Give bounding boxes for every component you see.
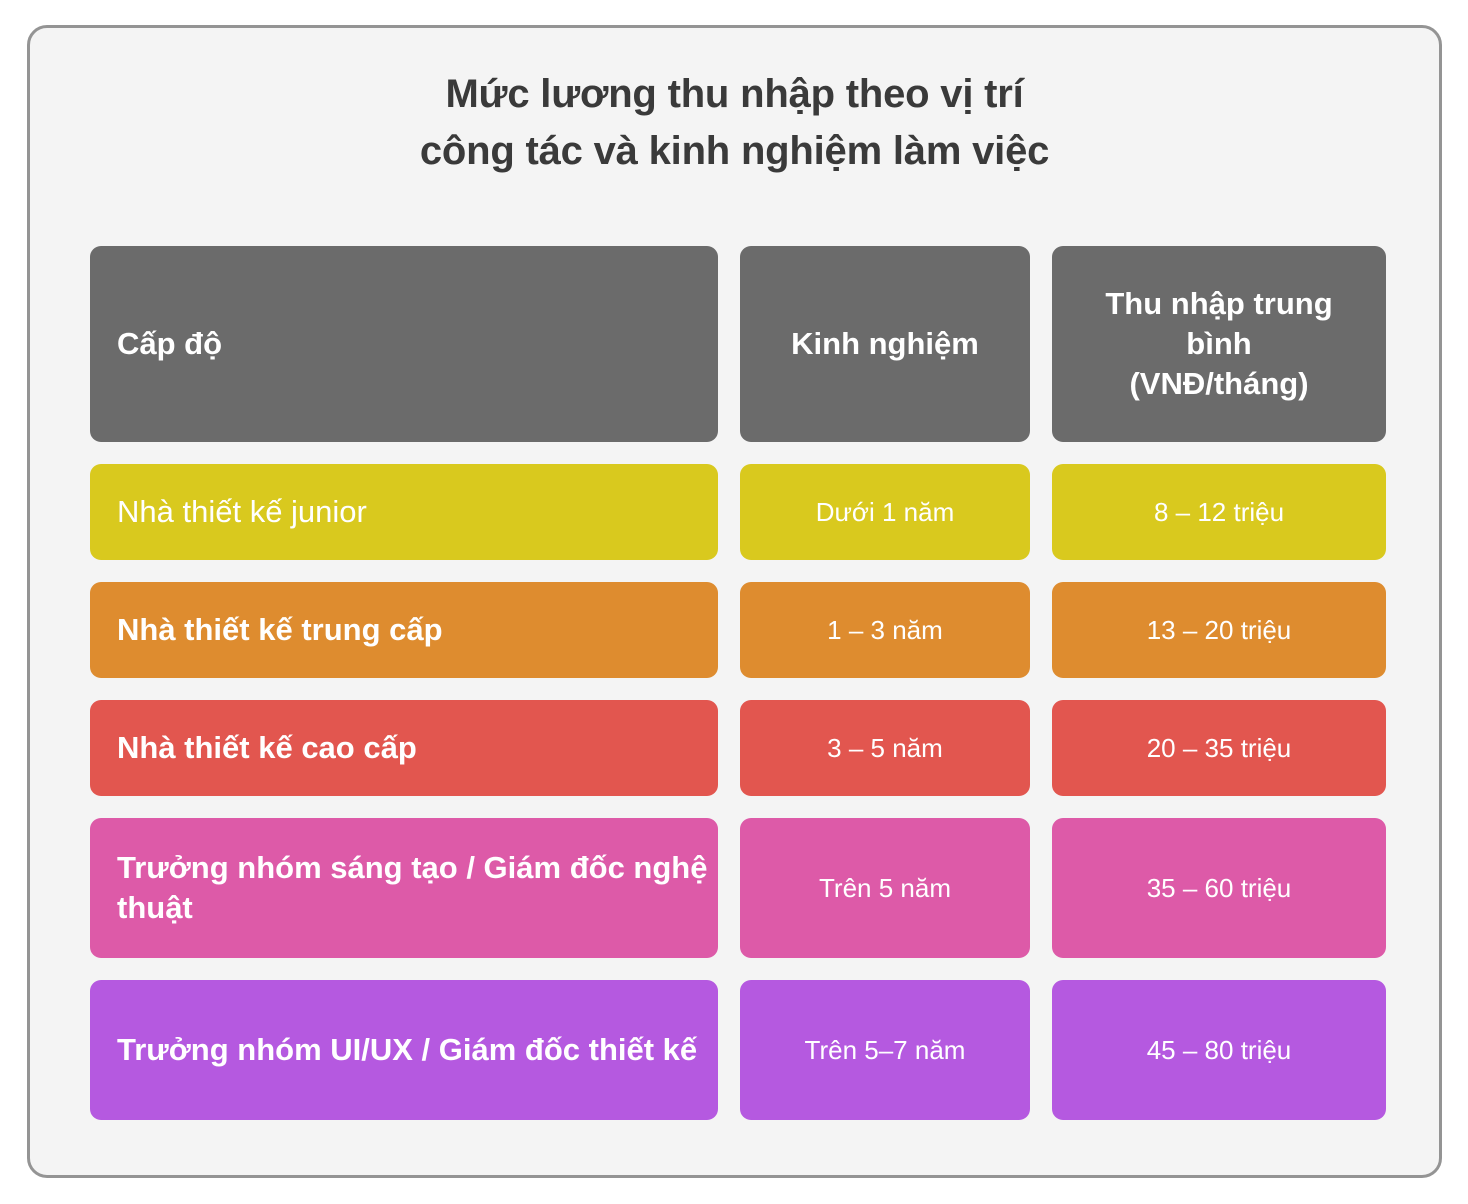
cell-level: Trưởng nhóm UI/UX / Giám đốc thiết kế xyxy=(90,980,718,1120)
cell-experience: 1 – 3 năm xyxy=(740,582,1030,678)
cell-income: 45 – 80 triệu xyxy=(1052,980,1386,1120)
salary-table: Cấp độ Kinh nghiệm Thu nhập trung bình (… xyxy=(90,246,1386,1120)
cell-level: Nhà thiết kế junior xyxy=(90,464,718,560)
header-cell-experience: Kinh nghiệm xyxy=(740,246,1030,442)
cell-experience: Trên 5 năm xyxy=(740,818,1030,958)
table-row: Nhà thiết kế cao cấp 3 – 5 năm 20 – 35 t… xyxy=(90,700,1386,796)
header-income-line-2: bình xyxy=(1105,324,1332,364)
header-income-line-3: (VNĐ/tháng) xyxy=(1105,364,1332,404)
cell-level: Nhà thiết kế trung cấp xyxy=(90,582,718,678)
cell-level: Trưởng nhóm sáng tạo / Giám đốc nghệ thu… xyxy=(90,818,718,958)
infographic-card: Mức lương thu nhập theo vị trí công tác … xyxy=(27,25,1442,1178)
cell-income: 13 – 20 triệu xyxy=(1052,582,1386,678)
page-title: Mức lương thu nhập theo vị trí công tác … xyxy=(30,28,1439,180)
cell-experience: Trên 5–7 năm xyxy=(740,980,1030,1120)
cell-experience: 3 – 5 năm xyxy=(740,700,1030,796)
header-cell-level: Cấp độ xyxy=(90,246,718,442)
cell-income: 20 – 35 triệu xyxy=(1052,700,1386,796)
table-row: Nhà thiết kế junior Dưới 1 năm 8 – 12 tr… xyxy=(90,464,1386,560)
table-header-row: Cấp độ Kinh nghiệm Thu nhập trung bình (… xyxy=(90,246,1386,442)
header-cell-income: Thu nhập trung bình (VNĐ/tháng) xyxy=(1052,246,1386,442)
table-row: Trưởng nhóm sáng tạo / Giám đốc nghệ thu… xyxy=(90,818,1386,958)
table-row: Trưởng nhóm UI/UX / Giám đốc thiết kế Tr… xyxy=(90,980,1386,1120)
header-income-line-1: Thu nhập trung xyxy=(1105,284,1332,324)
table-row: Nhà thiết kế trung cấp 1 – 3 năm 13 – 20… xyxy=(90,582,1386,678)
cell-income: 35 – 60 triệu xyxy=(1052,818,1386,958)
cell-level: Nhà thiết kế cao cấp xyxy=(90,700,718,796)
cell-income: 8 – 12 triệu xyxy=(1052,464,1386,560)
cell-experience: Dưới 1 năm xyxy=(740,464,1030,560)
title-line-2: công tác và kinh nghiệm làm việc xyxy=(30,123,1439,180)
title-line-1: Mức lương thu nhập theo vị trí xyxy=(30,66,1439,123)
